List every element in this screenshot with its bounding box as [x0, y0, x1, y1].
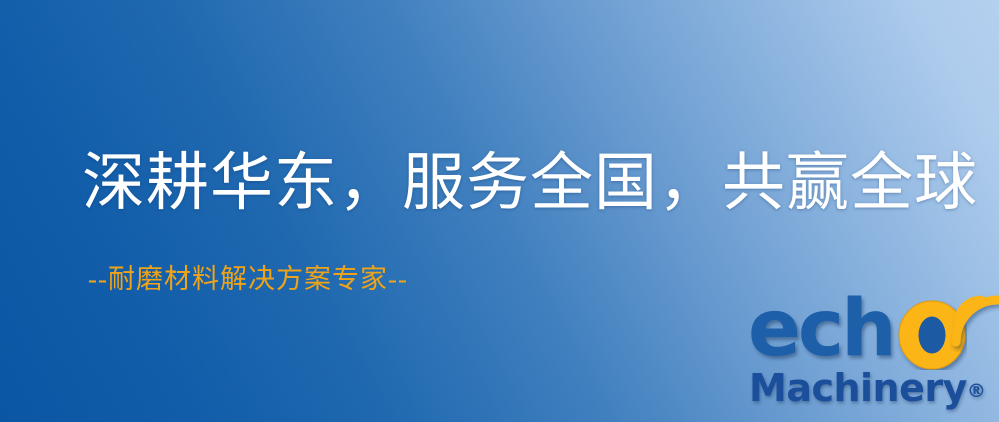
- banner-subtitle: --耐磨材料解决方案专家--: [88, 266, 408, 293]
- logo-wordmark: ech: [748, 296, 999, 376]
- company-logo[interactable]: ech: [748, 296, 999, 422]
- logo-echo-text: ech: [748, 290, 894, 368]
- logo-signal-waves-icon: [946, 290, 999, 352]
- promo-banner: 深耕华东，服务全国，共赢全球 --耐磨材料解决方案专家-- ech: [0, 0, 999, 422]
- registered-trademark-icon: ®: [967, 380, 986, 402]
- logo-tagline: Machinery®: [749, 369, 986, 407]
- banner-headline: 深耕华东，服务全国，共赢全球: [82, 152, 978, 215]
- logo-tagline-text: Machinery: [749, 366, 967, 410]
